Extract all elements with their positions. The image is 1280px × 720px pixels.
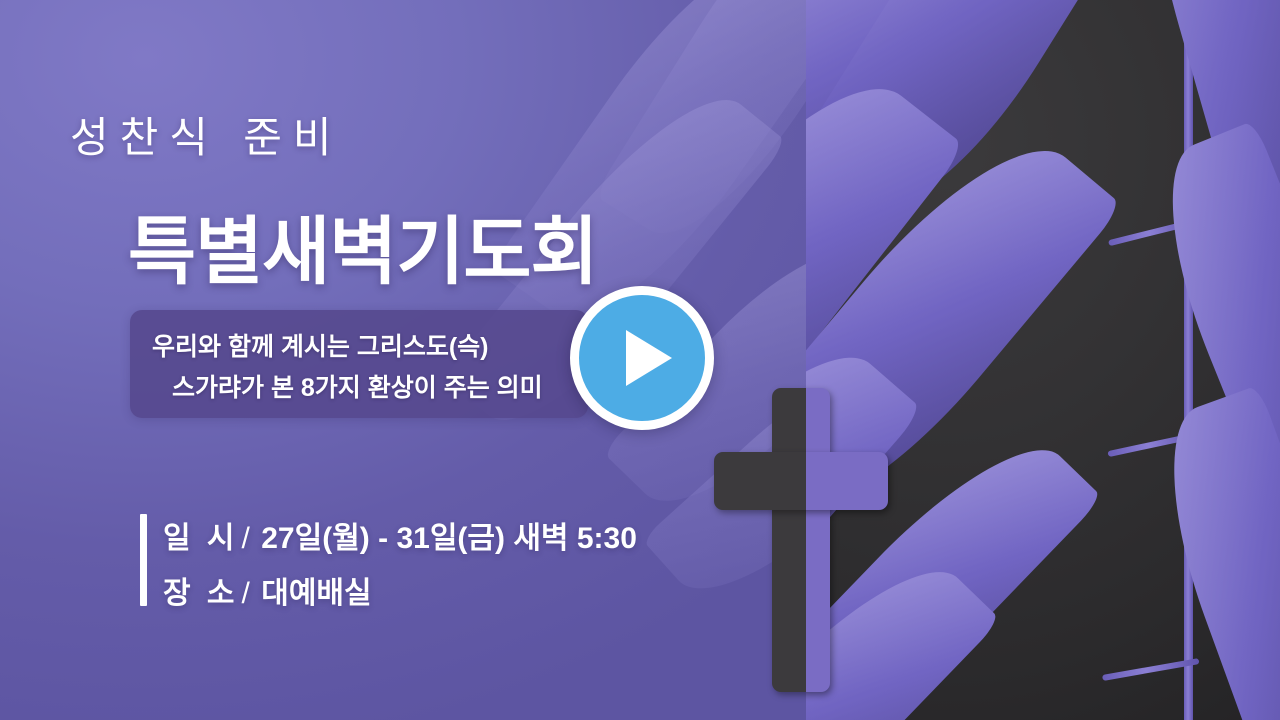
page-title: 특별새벽기도회	[128, 192, 598, 299]
info-label-location: 장 소	[163, 577, 239, 610]
info-separator: /	[239, 577, 253, 610]
info-separator: /	[239, 522, 253, 555]
info-value-datetime: 27일(월) - 31일(금) 새벽 5:30	[261, 522, 637, 555]
video-thumbnail: 성찬식 준비 특별새벽기도회 우리와 함께 계시는 그리스도(슥) 스가랴가 본…	[0, 0, 1280, 720]
subtitle-line-1: 우리와 함께 계시는 그리스도(슥)	[152, 327, 489, 363]
info-accent-bar	[140, 514, 147, 606]
info-label-datetime: 일 시	[163, 522, 239, 555]
cross-vertical	[806, 388, 830, 692]
play-button[interactable]	[570, 286, 714, 430]
cross-vertical	[772, 388, 806, 692]
play-icon	[626, 330, 672, 386]
cross-horizontal	[806, 452, 888, 510]
eyebrow-title: 성찬식 준비	[70, 104, 343, 165]
cross-horizontal	[714, 452, 806, 510]
subtitle-panel: 우리와 함께 계시는 그리스도(슥) 스가랴가 본 8가지 환상이 주는 의미	[130, 310, 588, 418]
subtitle-line-2: 스가랴가 본 8가지 환상이 주는 의미	[172, 368, 543, 404]
cross-right-segment	[806, 0, 1280, 720]
info-row-datetime: 일 시/ 27일(월) - 31일(금) 새벽 5:30	[163, 513, 637, 557]
info-value-location: 대예배실	[261, 577, 371, 610]
info-row-location: 장 소/ 대예배실	[163, 568, 372, 612]
